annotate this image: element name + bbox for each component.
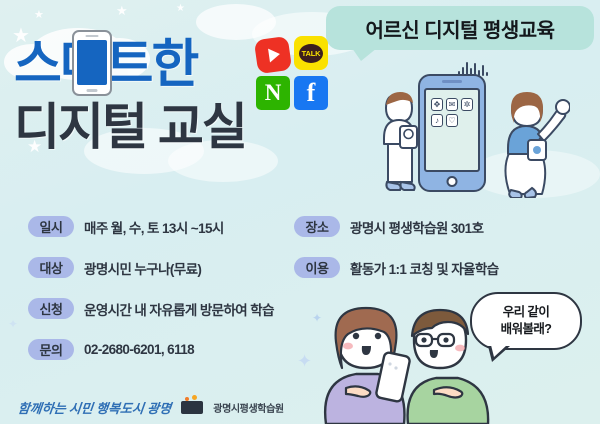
app-tile-settings: ✲ [461,98,473,111]
info-cell-usage: 이용 활동가 1:1 코칭 및 자율학습 [294,257,600,278]
large-smartphone-graphic: ✥ ✉ ✲ ♪ ♡ [418,74,486,192]
app-tile-compass: ✥ [431,98,443,111]
app-tile-music: ♪ [431,114,443,127]
star-icon: ★ [176,4,185,14]
app-tile-mail: ✉ [446,98,458,111]
info-label-location: 장소 [294,216,340,237]
info-cell-audience: 대상 광명시민 누구나(무료) [28,257,294,278]
info-value-application: 운영시간 내 자유롭게 방문하여 학습 [84,299,274,319]
smartphone-icon [72,30,112,96]
info-value-audience: 광명시민 누구나(무료) [84,258,201,278]
facebook-icon: f [294,76,328,110]
info-row: 일시 매주 월, 수, 토 13시 ~15시 장소 광명시 평생학습원 301호 [0,206,600,247]
header-speech-bubble: 어르신 디지털 평생교육 [326,6,594,50]
info-cell-date: 일시 매주 월, 수, 토 13시 ~15시 [28,216,294,237]
poster-canvas: ★ ★ ★ ★ ★ ✦ ✦ ✦ 어르신 디지털 평생교육 스마트한 디지털 교실… [0,0,600,424]
illustration-woman [484,82,570,198]
star-icon: ★ [34,10,44,21]
kakaotalk-label: TALK [299,44,323,63]
info-cell-location: 장소 광명시 평생학습원 301호 [294,216,600,237]
quote-line-2: 배워볼래? [501,321,552,338]
info-label-contact: 문의 [28,339,74,360]
header-title: 어르신 디지털 평생교육 [365,14,554,43]
play-triangle [268,47,281,62]
info-cell-contact: 문의 02-2680-6201, 6118 [28,339,294,360]
institution-logo-mark [181,401,203,414]
info-value-location: 광명시 평생학습원 301호 [350,217,483,237]
youtube-icon [254,36,292,74]
info-value-date: 매주 월, 수, 토 13시 ~15시 [84,217,224,237]
footer-bar: 함께하는 시민 행복도시 광명 광명시평생학습원 [0,390,600,424]
phone-speaker [442,80,462,83]
central-illustration: ✥ ✉ ✲ ♪ ♡ [360,60,590,208]
info-label-usage: 이용 [294,257,340,278]
phone-home-button [447,176,458,187]
phone-speaker [86,35,99,37]
kakaotalk-icon: TALK [294,36,328,70]
info-label-application: 신청 [28,298,74,319]
info-value-usage: 활동가 1:1 코칭 및 자율학습 [350,258,499,278]
quote-speech-bubble: 우리 같이 배워볼래? [470,292,582,350]
quote-line-1: 우리 같이 [503,304,549,321]
phone-home-button [87,89,98,92]
naver-icon: N [256,76,290,110]
info-label-date: 일시 [28,216,74,237]
app-icon-cluster: TALK N f [256,36,330,110]
app-tile-heart: ♡ [446,114,458,127]
institution-name: 광명시평생학습원 [213,400,283,415]
info-value-contact: 02-2680-6201, 6118 [84,342,194,357]
info-label-audience: 대상 [28,257,74,278]
phone-app-grid: ✥ ✉ ✲ ♪ ♡ [424,88,480,172]
gwangmyeong-city-logo: 함께하는 시민 행복도시 광명 [17,398,172,417]
star-icon: ★ [116,4,128,17]
info-cell-application: 신청 운영시간 내 자유롭게 방문하여 학습 [28,298,294,319]
phone-screen [77,40,107,85]
info-row: 대상 광명시민 누구나(무료) 이용 활동가 1:1 코칭 및 자율학습 [0,247,600,288]
